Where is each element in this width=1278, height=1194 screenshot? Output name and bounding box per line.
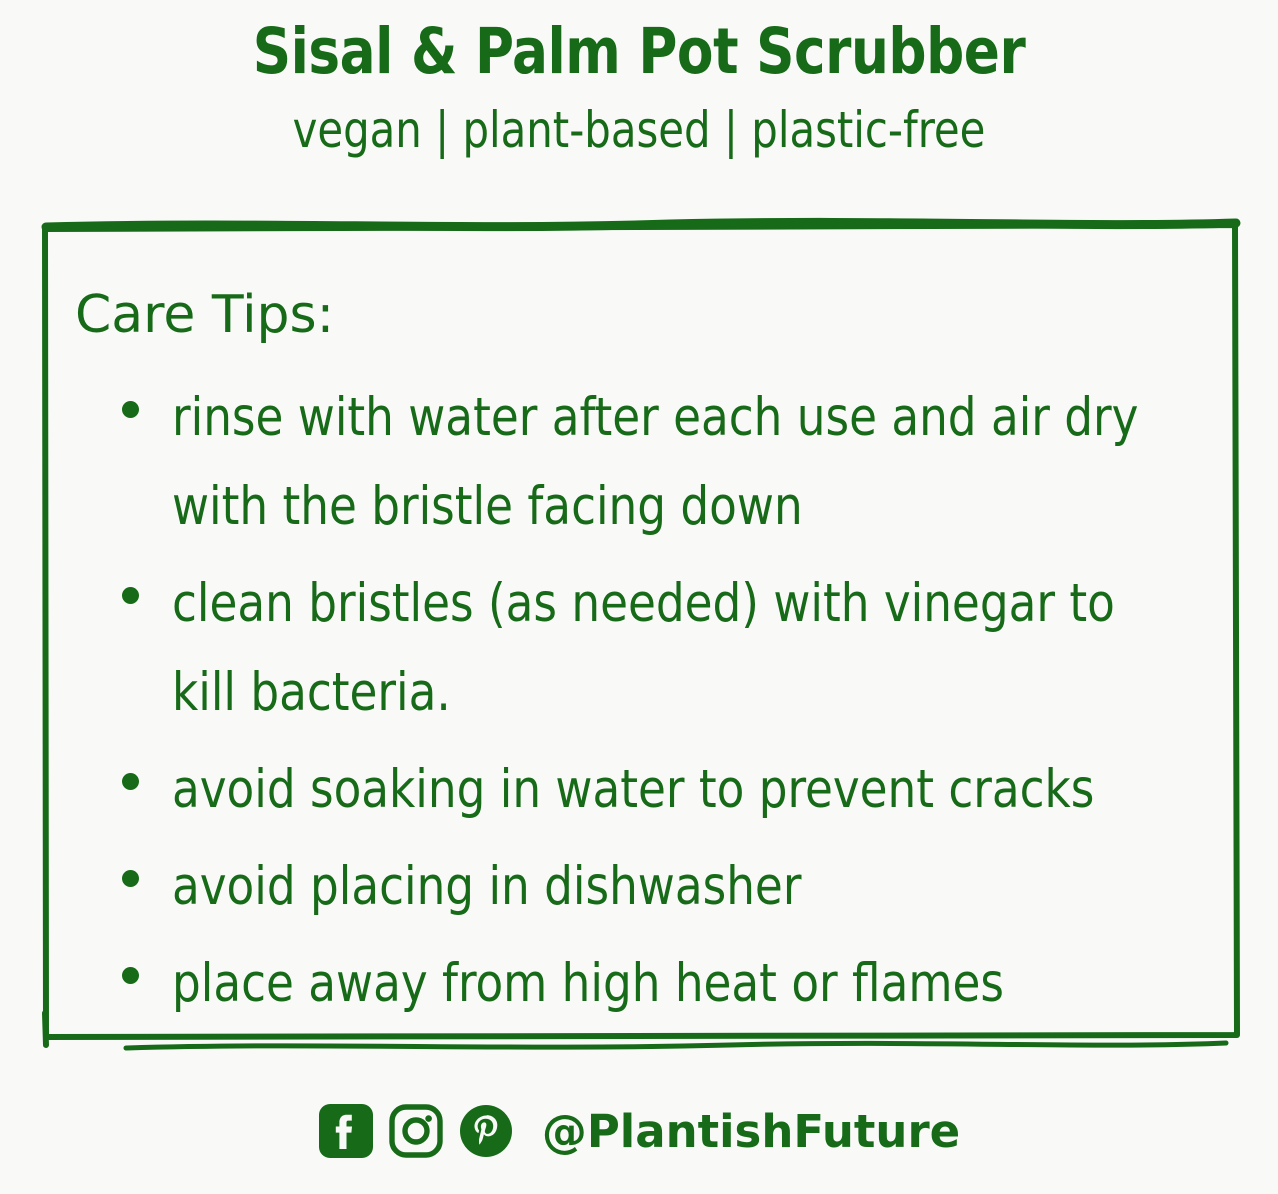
header: Sisal & Palm Pot Scrubber vegan | plant-… bbox=[0, 0, 1278, 155]
bullet-icon bbox=[122, 587, 139, 604]
care-tips-list: rinse with water after each use and air … bbox=[44, 373, 1236, 1036]
list-item-label: avoid soaking in water to prevent cracks bbox=[172, 745, 1183, 834]
bullet-icon bbox=[122, 773, 139, 790]
list-item: place away from high heat or flames bbox=[44, 939, 1236, 1028]
bullet-icon bbox=[122, 967, 139, 984]
list-item: avoid placing in dishwasher bbox=[44, 842, 1236, 931]
instagram-icon[interactable] bbox=[388, 1103, 444, 1159]
list-item: clean bristles (as needed) with vinegar … bbox=[44, 559, 1236, 737]
page-title: Sisal & Palm Pot Scrubber bbox=[38, 0, 1239, 83]
bullet-icon bbox=[122, 401, 139, 418]
list-item-label: clean bristles (as needed) with vinegar … bbox=[172, 559, 1183, 737]
care-tips-card: Care Tips: rinse with water after each u… bbox=[44, 227, 1236, 1035]
facebook-icon[interactable] bbox=[318, 1103, 374, 1159]
page-subtitle: vegan | plant-based | plastic-free bbox=[45, 83, 1234, 155]
bullet-icon bbox=[122, 870, 139, 887]
list-item-label: avoid placing in dishwasher bbox=[172, 842, 1183, 931]
care-tips-heading: Care Tips: bbox=[75, 289, 334, 341]
social-handle: @PlantishFuture bbox=[542, 1109, 960, 1154]
pinterest-icon[interactable] bbox=[458, 1103, 514, 1159]
social-footer: @PlantishFuture bbox=[0, 1103, 1278, 1159]
poster-root: Sisal & Palm Pot Scrubber vegan | plant-… bbox=[0, 0, 1278, 1194]
list-item-label: rinse with water after each use and air … bbox=[172, 373, 1183, 551]
card-body: Care Tips: rinse with water after each u… bbox=[44, 227, 1236, 1035]
list-item: rinse with water after each use and air … bbox=[44, 373, 1236, 551]
list-item-label: place away from high heat or flames bbox=[172, 939, 1183, 1028]
list-item: avoid soaking in water to prevent cracks bbox=[44, 745, 1236, 834]
